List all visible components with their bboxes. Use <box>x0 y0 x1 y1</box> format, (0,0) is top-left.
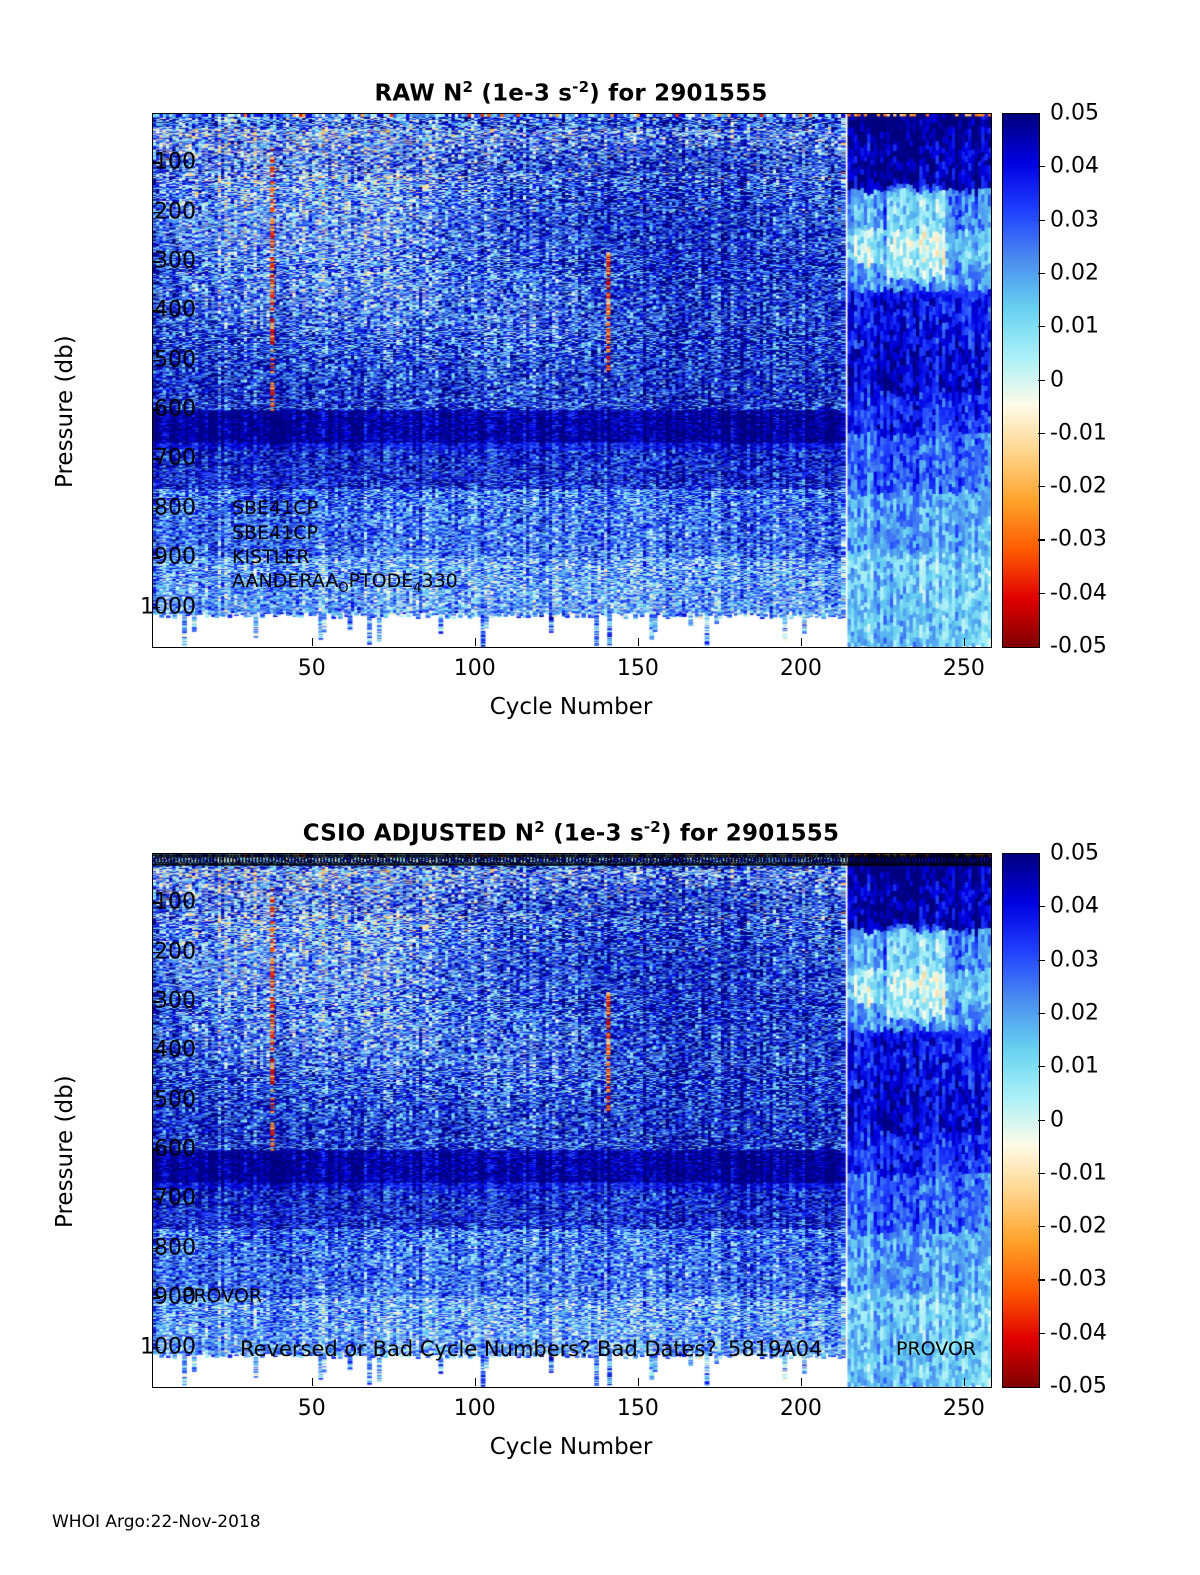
y-tick-mark <box>152 360 160 362</box>
annot4-part3: 330 <box>422 570 458 592</box>
colorbar-tick-label: 0.02 <box>1050 1000 1099 1025</box>
y-tick-mark <box>152 952 160 954</box>
colorbar-tick-label: 0.01 <box>1050 1054 1099 1079</box>
x-tick-mark <box>964 1378 966 1386</box>
colorbar-tick-label: -0.03 <box>1050 527 1107 552</box>
y-tick-mark <box>152 1347 160 1349</box>
y-tick-label: 100 <box>76 150 196 175</box>
y-tick-mark <box>152 1248 160 1250</box>
annot4-part2: PTODE <box>349 570 414 592</box>
colorbar-tick-mark <box>1038 960 1045 961</box>
colorbar-tick-mark <box>1038 380 1045 381</box>
y-tick-label: 100 <box>76 890 196 915</box>
annotation-sensor-1: SBE41CP <box>232 497 318 519</box>
y-tick-mark <box>152 1100 160 1102</box>
colorbar-tick-label: -0.01 <box>1050 1160 1107 1185</box>
colorbar-tick-mark <box>1038 1173 1045 1174</box>
y-tick-label: 200 <box>76 939 196 964</box>
x-tick-mark <box>312 638 314 646</box>
y-tick-mark <box>152 1297 160 1299</box>
x-tick-label: 100 <box>425 656 525 681</box>
colorbar-tick-label: -0.05 <box>1050 1374 1107 1399</box>
y-tick-label: 500 <box>76 1087 196 1112</box>
colorbar-tick-label: -0.05 <box>1050 634 1107 659</box>
annot4-part1: AANDERAA <box>232 570 338 592</box>
y-tick-label: 900 <box>76 545 196 570</box>
colorbar-raw <box>1002 113 1040 648</box>
colorbar-tick-mark <box>1038 1226 1045 1227</box>
y-tick-mark <box>152 1001 160 1003</box>
panel-csio-adjusted-n2: CSIO ADJUSTED N2 (1e-3 s-2) for 2901555 … <box>0 740 1200 1500</box>
x-tick-mark <box>475 1378 477 1386</box>
x-tick-label: 50 <box>262 656 362 681</box>
title2-superscript-2: -2 <box>644 818 661 836</box>
colorbar-tick-mark <box>1038 593 1045 594</box>
x-tick-label: 250 <box>914 1396 1014 1421</box>
colorbar-gradient-adjusted <box>1003 854 1039 1387</box>
y-tick-label: 400 <box>76 298 196 323</box>
colorbar-tick-label: 0.03 <box>1050 207 1099 232</box>
title-units-a: (1e-3 s <box>473 81 572 107</box>
colorbar-tick-label: -0.02 <box>1050 474 1107 499</box>
y-tick-label: 800 <box>76 1235 196 1260</box>
colorbar-tick-mark <box>1038 166 1045 167</box>
y-tick-mark <box>152 508 160 510</box>
y-tick-mark <box>152 902 160 904</box>
colorbar-tick-label: -0.04 <box>1050 1320 1107 1345</box>
x-tick-label: 250 <box>914 656 1014 681</box>
y-tick-label: 500 <box>76 347 196 372</box>
title-text-main: RAW N <box>374 81 462 107</box>
y-tick-label: 400 <box>76 1038 196 1063</box>
colorbar-tick-mark <box>1038 1066 1045 1067</box>
y-tick-label: 200 <box>76 199 196 224</box>
colorbar-tick-label: 0.05 <box>1050 841 1099 866</box>
title-units-b: ) for 2901555 <box>589 81 767 107</box>
x-tick-mark <box>638 638 640 646</box>
colorbar-tick-mark <box>1038 220 1045 221</box>
colorbar-tick-label: 0.01 <box>1050 314 1099 339</box>
annotation-sensor-2: SBE41CP <box>232 522 318 544</box>
title-superscript: 2 <box>463 78 474 96</box>
y-tick-mark <box>152 1198 160 1200</box>
colorbar-tick-mark <box>1038 1013 1045 1014</box>
y-tick-mark <box>152 607 160 609</box>
x-axis-label-raw: Cycle Number <box>152 694 990 720</box>
x-tick-mark <box>964 638 966 646</box>
colorbar-gradient-raw <box>1003 114 1039 647</box>
colorbar-tick-label: 0.04 <box>1050 154 1099 179</box>
y-axis-label-adjusted: Pressure (db) <box>52 1075 78 1228</box>
x-tick-mark <box>801 638 803 646</box>
y-tick-mark <box>152 1149 160 1151</box>
annotation-bad-cycles: Reversed or Bad Cycle Numbers? Bad Dates… <box>240 1337 717 1361</box>
x-tick-mark <box>801 1378 803 1386</box>
colorbar-tick-mark <box>1038 486 1045 487</box>
y-tick-label: 1000 <box>76 1334 196 1359</box>
annotation-serial-number: 5819A04 <box>728 1337 823 1361</box>
y-tick-mark <box>152 212 160 214</box>
x-tick-label: 100 <box>425 1396 525 1421</box>
y-tick-mark <box>152 310 160 312</box>
title-superscript-2: -2 <box>572 78 589 96</box>
panel-raw-n2: RAW N2 (1e-3 s-2) for 2901555 Pressure (… <box>0 0 1200 760</box>
colorbar-tick-label: 0 <box>1050 1107 1064 1132</box>
colorbar-tick-label: -0.04 <box>1050 580 1107 605</box>
y-tick-mark <box>152 261 160 263</box>
x-tick-mark <box>475 638 477 646</box>
x-tick-label: 150 <box>588 656 688 681</box>
y-tick-mark <box>152 409 160 411</box>
x-tick-mark <box>312 1378 314 1386</box>
y-tick-label: 600 <box>76 1137 196 1162</box>
annotation-sensor-3: KISTLER <box>232 546 310 568</box>
y-tick-mark <box>152 162 160 164</box>
x-tick-label: 50 <box>262 1396 362 1421</box>
colorbar-tick-mark <box>1038 1279 1045 1280</box>
y-tick-mark <box>152 557 160 559</box>
y-tick-label: 800 <box>76 495 196 520</box>
annotation-sensor-4: AANDERAAOPTODE4330 <box>232 570 458 596</box>
y-tick-mark <box>152 1050 160 1052</box>
annotation-provor-right: PROVOR <box>896 1338 976 1360</box>
y-tick-label: 700 <box>76 1186 196 1211</box>
x-tick-label: 200 <box>751 656 851 681</box>
colorbar-tick-label: -0.03 <box>1050 1267 1107 1292</box>
plot-title-raw: RAW N2 (1e-3 s-2) for 2901555 <box>152 78 990 107</box>
title2-superscript: 2 <box>534 818 545 836</box>
colorbar-tick-mark <box>1038 1333 1045 1334</box>
colorbar-tick-label: 0 <box>1050 367 1064 392</box>
y-tick-label: 1000 <box>76 594 196 619</box>
colorbar-tick-label: 0.05 <box>1050 101 1099 126</box>
colorbar-tick-mark <box>1038 906 1045 907</box>
y-tick-label: 600 <box>76 397 196 422</box>
plot-title-adjusted: CSIO ADJUSTED N2 (1e-3 s-2) for 2901555 <box>152 818 990 847</box>
colorbar-tick-label: 0.04 <box>1050 894 1099 919</box>
colorbar-tick-mark <box>1038 539 1045 540</box>
y-tick-mark <box>152 458 160 460</box>
colorbar-tick-label: -0.02 <box>1050 1214 1107 1239</box>
colorbar-tick-label: 0.03 <box>1050 947 1099 972</box>
title2-units-a: (1e-3 s <box>545 821 644 847</box>
colorbar-tick-mark <box>1038 326 1045 327</box>
heatmap-canvas-adjusted <box>153 854 991 1387</box>
title2-text-main: CSIO ADJUSTED N <box>303 821 534 847</box>
x-tick-label: 150 <box>588 1396 688 1421</box>
y-tick-label: 300 <box>76 249 196 274</box>
colorbar-tick-mark <box>1038 273 1045 274</box>
x-tick-label: 200 <box>751 1396 851 1421</box>
y-tick-label: 900 <box>76 1285 196 1310</box>
x-tick-mark <box>638 1378 640 1386</box>
title2-units-b: ) for 2901555 <box>661 821 839 847</box>
colorbar-adjusted <box>1002 853 1040 1388</box>
colorbar-tick-label: -0.01 <box>1050 420 1107 445</box>
annot4-sub1: O <box>338 581 348 596</box>
y-axis-label-raw: Pressure (db) <box>52 335 78 488</box>
colorbar-tick-mark <box>1038 1120 1045 1121</box>
y-tick-label: 700 <box>76 446 196 471</box>
y-tick-label: 300 <box>76 989 196 1014</box>
colorbar-tick-label: 0.02 <box>1050 260 1099 285</box>
footer-credit: WHOI Argo:22-Nov-2018 <box>52 1512 261 1532</box>
heatmap-axes-adjusted <box>152 853 992 1388</box>
colorbar-tick-mark <box>1038 433 1045 434</box>
x-axis-label-adjusted: Cycle Number <box>152 1434 990 1460</box>
annot4-sub2: 4 <box>413 581 421 596</box>
